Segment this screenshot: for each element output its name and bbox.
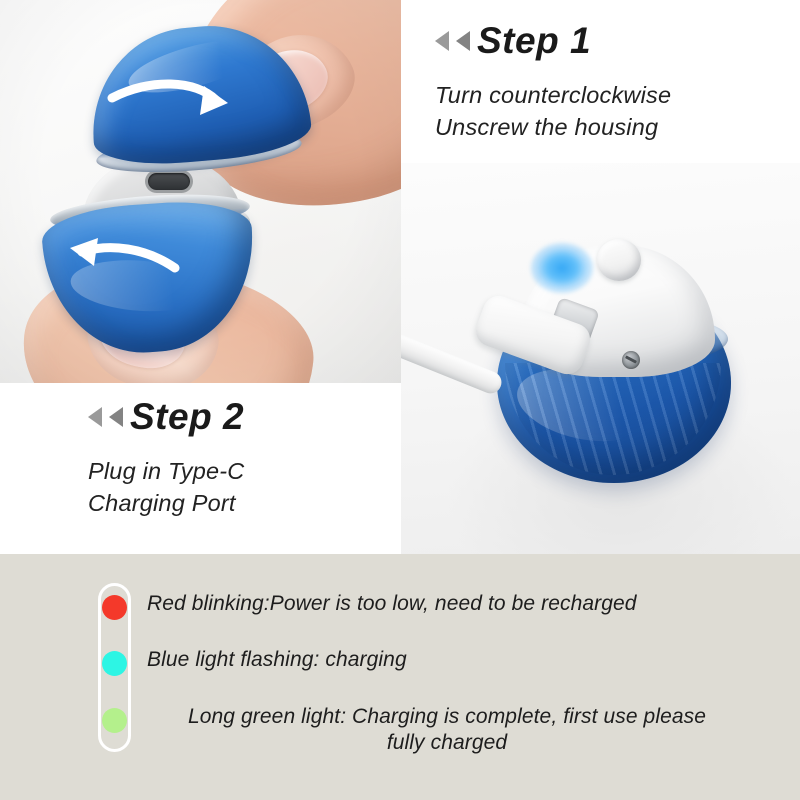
step-2-caption: Step 2 Plug in Type-C Charging Port <box>88 398 244 520</box>
photo-charging-port <box>401 163 800 554</box>
led-status-legend-panel: Red blinking:Power is too low, need to b… <box>0 554 800 800</box>
ball-knob <box>597 239 641 281</box>
led-dot-green-icon <box>102 708 127 733</box>
legend-row: Blue light flashing: charging <box>98 639 758 695</box>
type-c-port <box>148 173 190 190</box>
led-dot-blue-icon <box>102 651 127 676</box>
legend-row: Red blinking:Power is too low, need to b… <box>98 583 758 639</box>
step-1-heading: Step 1 <box>435 22 671 59</box>
legend-row: Long green light: Charging is complete, … <box>98 696 758 758</box>
legend-text-red: Red blinking:Power is too low, need to b… <box>147 583 637 618</box>
photo-unscrew-housing <box>0 0 401 383</box>
led-dot-red-icon <box>102 595 127 620</box>
infographic-page: Step 1 Turn counterclockwise Unscrew the… <box>0 0 800 800</box>
step-1-description: Turn counterclockwise Unscrew the housin… <box>435 79 671 144</box>
step-1-caption: Step 1 Turn counterclockwise Unscrew the… <box>435 22 671 144</box>
triangle-left-icon-inner <box>109 407 123 427</box>
led-status-list: Red blinking:Power is too low, need to b… <box>98 583 758 757</box>
ball-screw <box>622 351 640 369</box>
step-2-heading-label: Step 2 <box>130 398 244 435</box>
step-1-heading-label: Step 1 <box>477 22 591 59</box>
photo-collage: Step 1 Turn counterclockwise Unscrew the… <box>0 0 800 554</box>
triangle-left-icon-outer <box>435 31 449 51</box>
led-indicator-glow <box>531 243 593 293</box>
triangle-left-icon-outer <box>88 407 102 427</box>
legend-text-blue: Blue light flashing: charging <box>147 639 407 674</box>
step-2-description: Plug in Type-C Charging Port <box>88 455 244 520</box>
triangle-left-icon-inner <box>456 31 470 51</box>
legend-text-green: Long green light: Charging is complete, … <box>147 696 747 758</box>
step-2-heading: Step 2 <box>88 398 244 435</box>
